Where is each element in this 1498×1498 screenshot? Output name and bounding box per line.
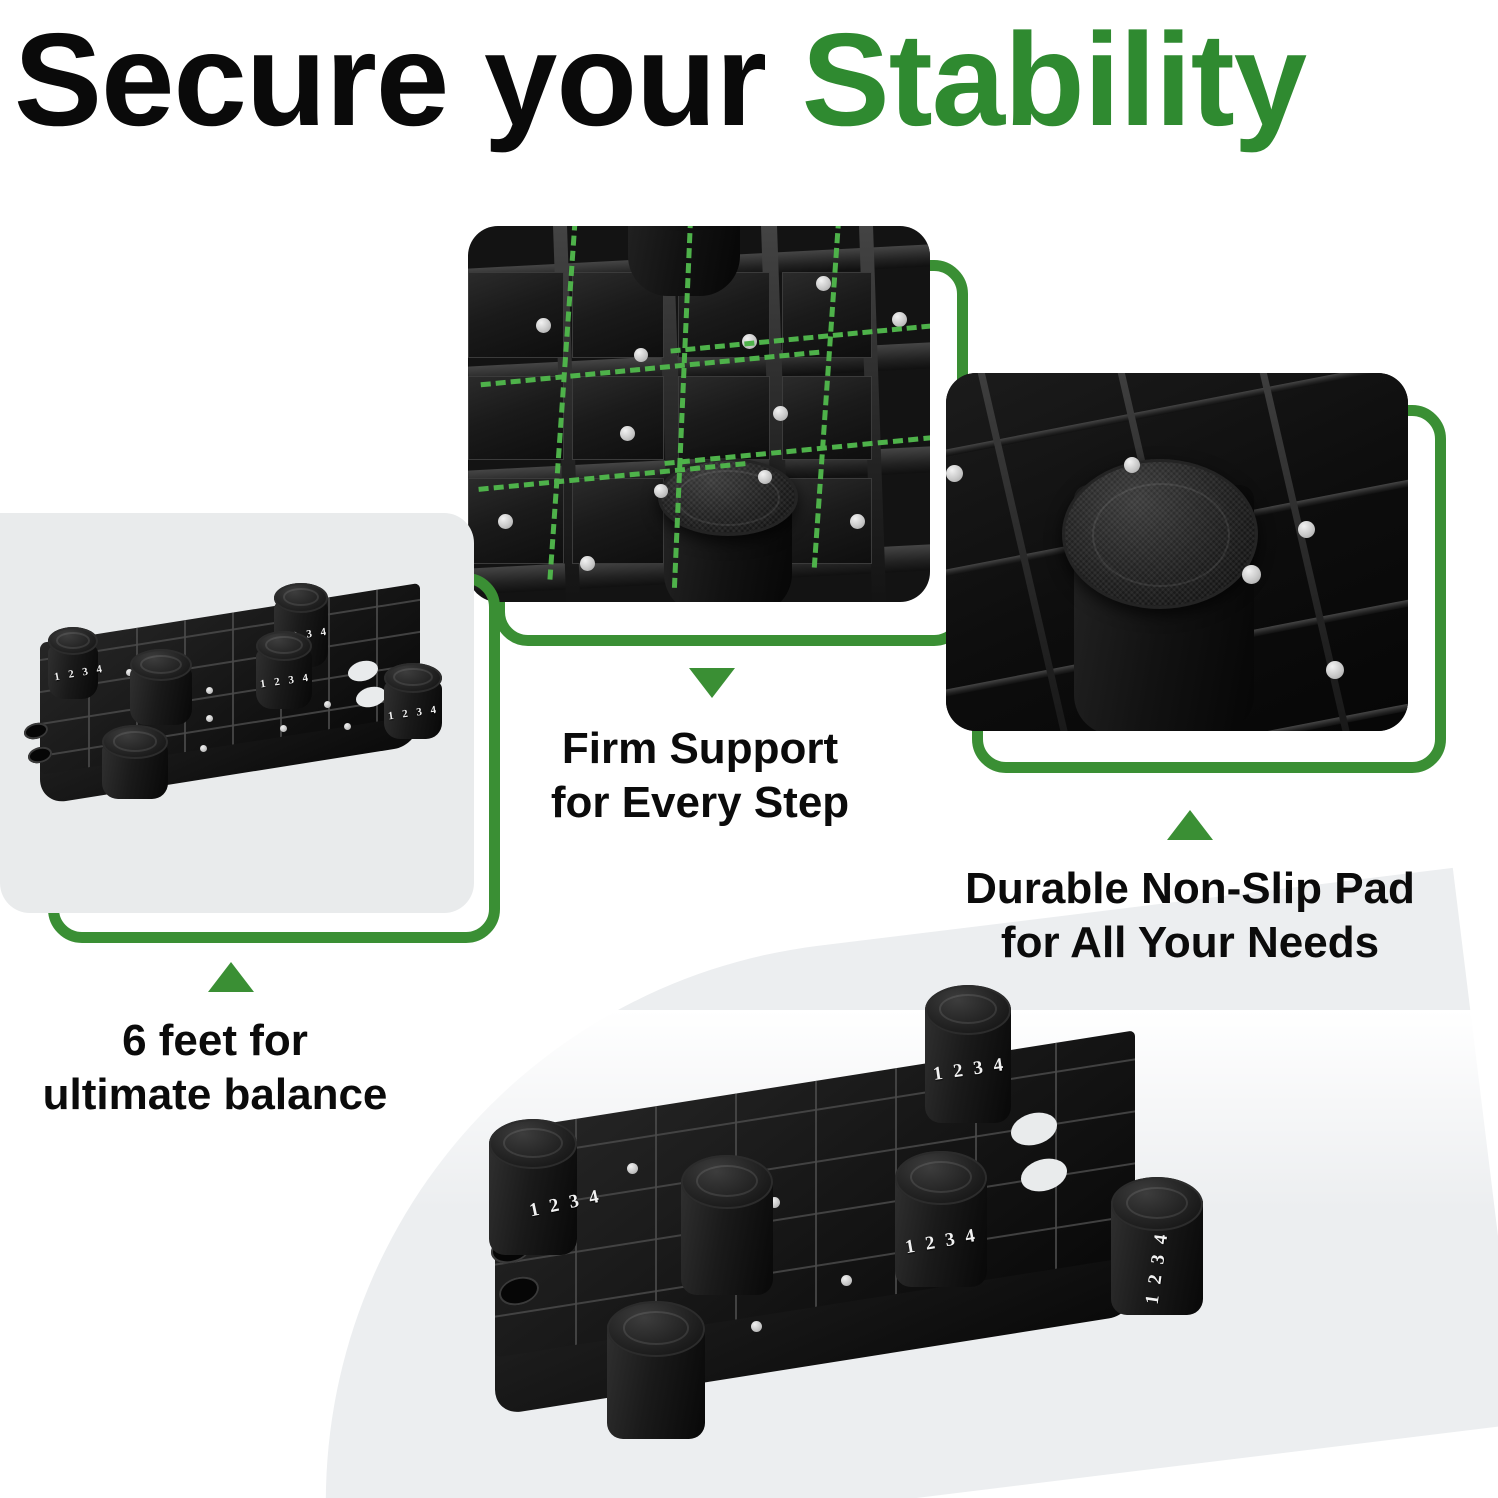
caption-line-2: for Every Step	[470, 776, 930, 830]
adjustable-foot: 1 2 3 4	[489, 1119, 577, 1265]
six-feet-product-photo: 1 2 3 4 1 2 3 4 1 2 3 4	[0, 513, 474, 913]
caption-line-1: Durable Non-Slip Pad	[900, 862, 1480, 916]
caption-non-slip-pad: Durable Non-Slip Pad for All Your Needs	[900, 862, 1480, 969]
non-slip-pad-closeup-panel	[946, 373, 1446, 773]
adjustable-foot	[130, 649, 192, 727]
caption-line-2: ultimate balance	[0, 1068, 430, 1122]
infographic-canvas: Secure your Stability	[0, 0, 1498, 1498]
product-base-small: 1 2 3 4 1 2 3 4 1 2 3 4	[18, 575, 458, 875]
adjustable-foot: 1 2 3 4	[895, 1151, 987, 1301]
grid-support-closeup-panel	[468, 226, 968, 646]
pointer-triangle-down-icon	[689, 668, 735, 698]
caption-line-2: for All Your Needs	[900, 916, 1480, 970]
page-title: Secure your Stability	[14, 14, 1484, 146]
adjustable-foot: 1 2 3 4	[1111, 1177, 1203, 1327]
adjustable-foot	[607, 1301, 705, 1451]
caption-line-1: 6 feet for	[0, 1014, 430, 1068]
caption-six-feet: 6 feet for ultimate balance	[0, 1014, 430, 1121]
grid-support-closeup-photo	[468, 226, 930, 602]
page-title-accent: Stability	[802, 6, 1306, 153]
six-feet-product-panel: 1 2 3 4 1 2 3 4 1 2 3 4	[0, 513, 500, 943]
adjustable-foot	[102, 725, 168, 801]
pointer-triangle-up-icon	[208, 962, 254, 992]
plastic-lattice-texture	[468, 226, 930, 602]
adjustable-foot: 1 2 3 4	[256, 631, 312, 711]
adjustable-foot: 1 2 3 4	[925, 985, 1011, 1135]
page-title-part1: Secure your	[14, 6, 802, 153]
adjustable-foot	[681, 1155, 773, 1305]
adjustable-foot: 1 2 3 4	[384, 663, 442, 741]
caption-firm-support: Firm Support for Every Step	[470, 722, 930, 829]
pointer-triangle-up-icon	[1167, 810, 1213, 840]
hero-product-photo: 1 2 3 4 1 2 3 4 1 2 3 4 1 2 3 4	[455, 985, 1315, 1485]
caption-line-1: Firm Support	[470, 722, 930, 776]
plastic-lattice-texture	[946, 373, 1408, 731]
non-slip-pad-closeup-photo	[946, 373, 1408, 731]
adjustable-foot: 1 2 3 4	[48, 627, 98, 699]
